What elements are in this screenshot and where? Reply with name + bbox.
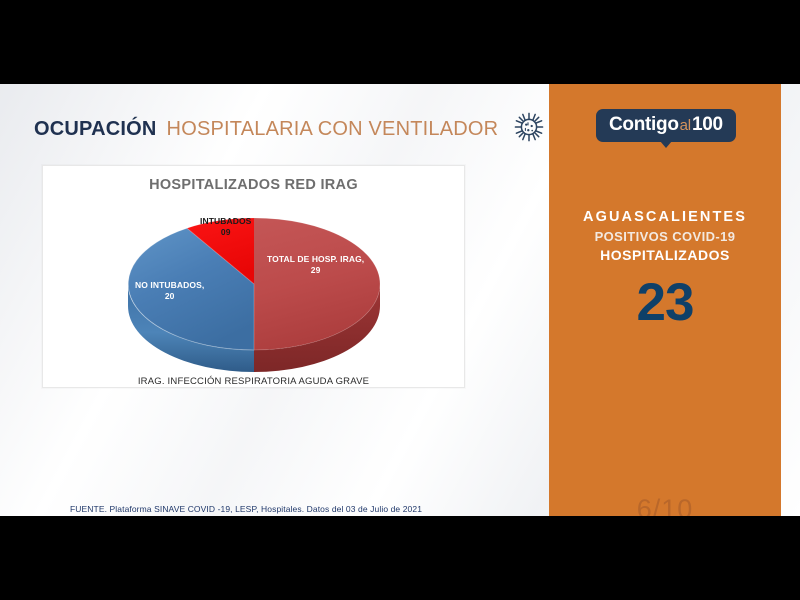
page-title-light: HOSPITALARIA CON VENTILADOR xyxy=(167,118,499,141)
logo-text-al: al xyxy=(679,117,692,134)
stat-subtitle-hospitalizados: HOSPITALIZADOS xyxy=(549,247,781,263)
source-note: FUENTE. Plataforma SINAVE COVID -19, LES… xyxy=(70,504,422,514)
chart-title: HOSPITALIZADOS RED IRAG xyxy=(43,177,464,193)
side-panel: Contigo al 100 AGUASCALIENTES POSITIVOS … xyxy=(549,84,781,516)
panel-stats: AGUASCALIENTES POSITIVOS COVID-19 HOSPIT… xyxy=(549,209,781,329)
stat-big-number: 23 xyxy=(549,276,781,329)
slide-content: OCUPACIÓN HOSPITALARIA CON VENTILADOR xyxy=(0,84,800,516)
letterbox-top-bar xyxy=(0,0,800,84)
page-indicator: 6/10 xyxy=(549,494,781,516)
chart-card: HOSPITALIZADOS RED IRAG xyxy=(42,165,465,388)
irag-legend-note: IRAG. INFECCIÓN RESPIRATORIA AGUDA GRAVE xyxy=(42,376,465,387)
pie-chart-svg xyxy=(43,198,466,383)
virus-icon xyxy=(512,110,546,149)
contigo-al-100-logo: Contigo al 100 xyxy=(596,109,736,142)
letterbox-bottom-bar xyxy=(0,516,800,600)
stat-state-name: AGUASCALIENTES xyxy=(549,209,781,225)
slide-stage: OCUPACIÓN HOSPITALARIA CON VENTILADOR xyxy=(0,0,800,600)
logo-text-100: 100 xyxy=(692,114,723,136)
logo-text-contigo: Contigo xyxy=(609,114,679,136)
page-title-strong: OCUPACIÓN xyxy=(34,118,157,141)
pie-chart: TOTAL DE HOSP. IRAG, 29 NO INTUBADOS, 20… xyxy=(43,198,466,383)
stat-subtitle-positivos: POSITIVOS COVID-19 xyxy=(549,229,781,244)
slide-header: OCUPACIÓN HOSPITALARIA CON VENTILADOR xyxy=(34,110,546,149)
